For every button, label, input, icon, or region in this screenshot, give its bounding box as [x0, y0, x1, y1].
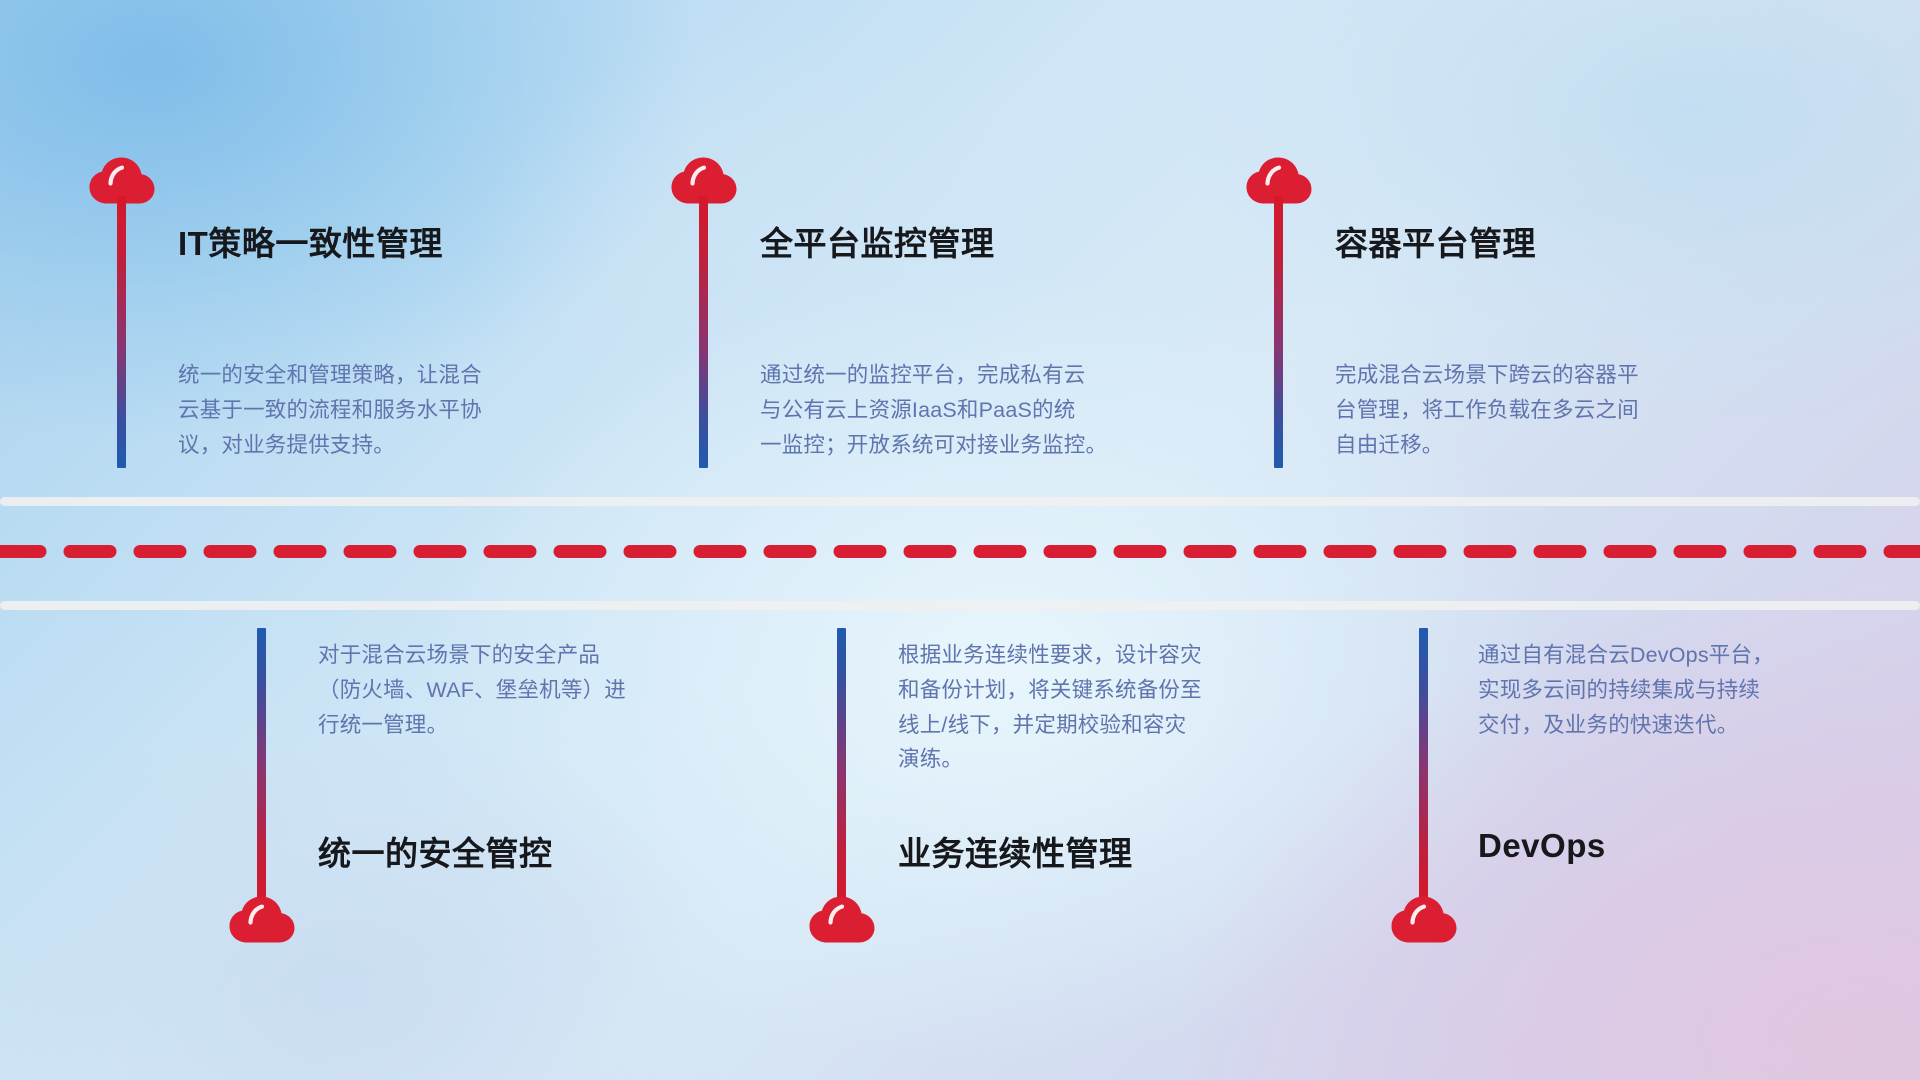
description-line: 统一的安全和管理策略，让混合	[178, 358, 482, 393]
description-line: 对于混合云场景下的安全产品	[318, 638, 626, 673]
description-line: 与公有云上资源IaaS和PaaS的统	[760, 393, 1107, 428]
description-line: 根据业务连续性要求，设计容灾	[898, 638, 1202, 673]
description-line: （防火墙、WAF、堡垒机等）进	[318, 673, 626, 708]
stem-bar	[837, 628, 846, 911]
description-line: 演练。	[898, 742, 1202, 777]
description-line: 线上/线下，并定期校验和容灾	[898, 708, 1202, 743]
item-title: DevOps	[1478, 827, 1606, 865]
description-line: 自由迁移。	[1335, 428, 1639, 463]
item-title: 业务连续性管理	[898, 827, 1133, 875]
road-edge-line-bottom	[0, 601, 1920, 610]
item-description: 根据业务连续性要求，设计容灾 和备份计划，将关键系统备份至 线上/线下，并定期校…	[898, 638, 1202, 777]
description-line: 实现多云间的持续集成与持续	[1478, 673, 1774, 708]
road-center-dashed-line	[0, 545, 1920, 558]
item-description: 对于混合云场景下的安全产品 （防火墙、WAF、堡垒机等）进 行统一管理。	[318, 638, 626, 742]
description-line: 通过自有混合云DevOps平台，	[1478, 638, 1774, 673]
description-line: 和备份计划，将关键系统备份至	[898, 673, 1202, 708]
cloud-icon	[1391, 896, 1457, 943]
item-description: 完成混合云场景下跨云的容器平 台管理，将工作负载在多云之间 自由迁移。	[1335, 358, 1639, 462]
item-title: IT策略一致性管理	[178, 217, 443, 265]
description-line: 台管理，将工作负载在多云之间	[1335, 393, 1639, 428]
description-line: 交付，及业务的快速迭代。	[1478, 708, 1774, 743]
item-description: 通过统一的监控平台，完成私有云 与公有云上资源IaaS和PaaS的统 一监控；开…	[760, 358, 1107, 462]
cloud-icon-svg	[809, 896, 875, 943]
cloud-icon	[809, 896, 875, 943]
cloud-icon-svg	[1391, 896, 1457, 943]
item-title: 统一的安全管控	[318, 827, 553, 875]
item-title: 容器平台管理	[1335, 217, 1536, 265]
description-line: 一监控；开放系统可对接业务监控。	[760, 428, 1107, 463]
description-line: 云基于一致的流程和服务水平协	[178, 393, 482, 428]
dashed-line-svg	[0, 545, 1920, 558]
item-description: 统一的安全和管理策略，让混合 云基于一致的流程和服务水平协 议，对业务提供支持。	[178, 358, 482, 462]
infographic-canvas: IT策略一致性管理 统一的安全和管理策略，让混合 云基于一致的流程和服务水平协 …	[0, 0, 1920, 1080]
stem-bar	[1419, 628, 1428, 911]
description-line: 行统一管理。	[318, 708, 626, 743]
description-line: 通过统一的监控平台，完成私有云	[760, 358, 1107, 393]
stem-bar	[117, 196, 126, 468]
cloud-icon	[229, 896, 295, 943]
stem-bar	[1274, 196, 1283, 468]
description-line: 议，对业务提供支持。	[178, 428, 482, 463]
road-edge-line-top	[0, 497, 1920, 506]
item-title: 全平台监控管理	[760, 217, 995, 265]
cloud-icon-svg	[229, 896, 295, 943]
item-description: 通过自有混合云DevOps平台， 实现多云间的持续集成与持续 交付，及业务的快速…	[1478, 638, 1774, 742]
description-line: 完成混合云场景下跨云的容器平	[1335, 358, 1639, 393]
stem-bar	[257, 628, 266, 911]
stem-bar	[699, 196, 708, 468]
